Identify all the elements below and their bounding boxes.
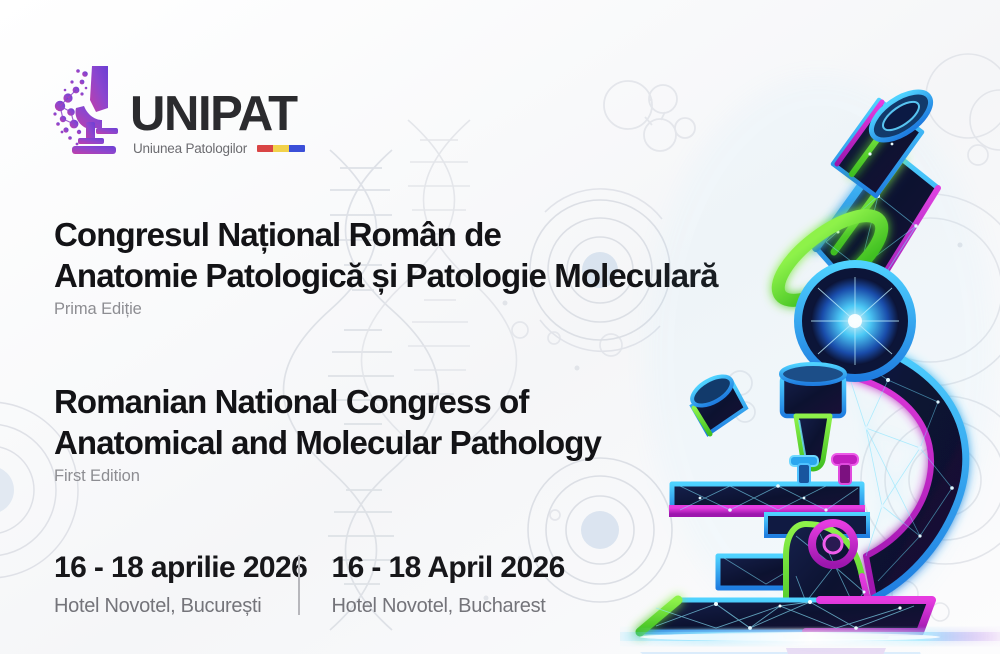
logo-tagline: Uniunea Patologilor — [133, 141, 247, 156]
romanian-title-line-2: Anatomie Patologică și Patologie Molecul… — [54, 255, 718, 296]
english-venue: Hotel Novotel, Bucharest — [332, 594, 565, 618]
congress-poster: UNIPAT Uniunea Patologilor Congresul Naț… — [0, 0, 1000, 654]
atom-rings-right-icon — [834, 54, 1000, 564]
microscope-base — [640, 600, 932, 632]
microscope-focus-lens — [798, 264, 912, 378]
microscope-objective-left — [687, 370, 746, 434]
romanian-flag-bar — [257, 145, 305, 152]
molecule-icon — [604, 81, 695, 151]
flag-segment-blue — [289, 145, 305, 152]
date-venue-row: 16 - 18 aprilie 2026 Hotel Novotel, Bucu… — [54, 550, 565, 618]
microscope-stage — [672, 454, 868, 536]
english-title-line-2: Anatomical and Molecular Pathology — [54, 422, 601, 463]
date-block-romanian: 16 - 18 aprilie 2026 Hotel Novotel, Bucu… — [54, 550, 298, 618]
flag-segment-yellow — [273, 145, 289, 152]
microscope-objective-center — [781, 364, 845, 469]
logo-wordmark: UNIPAT — [130, 91, 305, 138]
unipat-logo[interactable]: UNIPAT Uniunea Patologilor — [52, 58, 305, 158]
microscope-collar-ring — [765, 201, 894, 316]
microscope-pillar — [786, 523, 886, 636]
microscope-lower-shelf — [716, 554, 828, 606]
english-title-line-1: Romanian National Congress of — [54, 381, 601, 422]
microscope-particles-icon — [52, 62, 124, 158]
floor-glow — [620, 632, 1000, 641]
romanian-venue: Hotel Novotel, București — [54, 594, 298, 618]
romanian-edition-label: Prima Ediție — [54, 300, 718, 319]
molecule-bottom-icon — [892, 581, 949, 621]
microscope-tube — [816, 148, 938, 304]
english-date: 16 - 18 April 2026 — [332, 550, 565, 586]
microscope-eyepiece — [833, 83, 939, 196]
english-edition-label: First Edition — [54, 467, 601, 486]
romanian-date: 16 - 18 aprilie 2026 — [54, 550, 298, 586]
english-title-block: Romanian National Congress of Anatomical… — [54, 381, 601, 486]
neon-wireframe-microscope — [620, 36, 1000, 654]
romanian-title-line-1: Congresul Național Român de — [54, 214, 718, 255]
date-block-english: 16 - 18 April 2026 Hotel Novotel, Buchar… — [300, 550, 565, 618]
stage-knob-cyan — [790, 456, 818, 484]
microscope-arm — [826, 336, 966, 598]
romanian-title-block: Congresul Național Român de Anatomie Pat… — [54, 214, 718, 319]
stage-knob-magenta — [832, 454, 858, 484]
cell-nucleus-lower — [581, 511, 619, 549]
flag-segment-red — [257, 145, 273, 152]
